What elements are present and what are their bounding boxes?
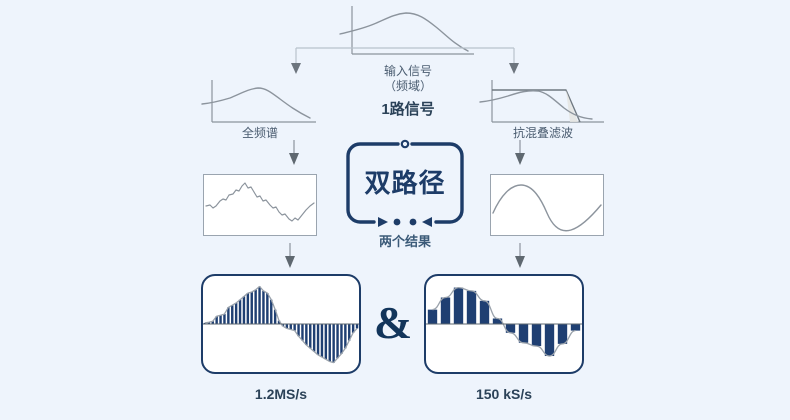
bar [441,298,450,325]
bar [344,324,346,348]
full-spectrum-label: 全频谱 [200,126,320,141]
arrow-left-branch-down [287,140,301,166]
full-spectrum-chart [200,78,320,130]
bar [219,315,221,324]
high-rate-label: 1.2MS/s [201,386,361,402]
sparse-bar-sine-icon [426,276,582,372]
bar [266,293,268,324]
bar [251,292,253,324]
branch-splitter [280,40,530,76]
bar [545,324,554,356]
lowpass-filter-curve-icon [478,78,608,130]
low-rate-label: 150 kS/s [424,386,584,402]
arrow-left-result-down [283,243,297,269]
bar [558,324,567,344]
bar [254,290,256,324]
bar [313,324,315,352]
arrow-down-icon [283,243,297,269]
arrow-down-icon [513,243,527,269]
bar [340,324,342,354]
bar [243,296,245,324]
bar [301,324,303,341]
bar [258,286,260,324]
low-rate-result-panel [424,274,584,374]
two-results-subtitle: 两个结果 [344,231,466,250]
bar [305,324,307,345]
bar [309,324,311,348]
input-channel-label: 1路信号 [338,98,478,119]
bar [247,293,249,324]
noisy-waveform-icon [204,175,316,235]
high-rate-result-panel [201,274,361,374]
arrow-left-icon [422,217,432,227]
sine-waveform-panel [490,174,604,236]
diagram-canvas: 输入信号 （频域） 1路信号 全频谱 抗混叠滤波 [0,0,790,420]
bar [428,310,437,324]
conjunction-ampersand: & [368,300,418,346]
bar [317,324,319,355]
arrow-right-result-down [513,243,527,269]
arrow-right-icon [378,217,388,227]
dense-bar-waveform-icon [203,276,359,372]
bar [480,301,489,324]
bar [262,291,264,324]
branch-split-arrow-icon [280,40,530,76]
arrow-down-icon [513,140,527,166]
dual-path-title: 双路径 [344,163,466,200]
bar [231,305,233,324]
input-signal-caption-sub: （频域） [338,79,478,94]
bar [321,324,323,357]
bar [454,288,463,324]
dot-icon [410,219,417,226]
noisy-waveform-panel [203,174,317,236]
bar [356,324,358,328]
anti-alias-chart [478,78,608,130]
bar [467,291,476,324]
bar [329,324,331,362]
bar [293,324,295,331]
bar [325,324,327,359]
arrow-down-icon [287,140,301,166]
sine-waveform-icon [491,175,603,235]
bar [239,300,241,324]
bar [332,324,334,363]
bar [235,303,237,324]
arrow-right-branch-down [513,140,527,166]
spectrum-curve-icon [200,78,320,130]
anti-alias-label: 抗混叠滤波 [478,126,608,141]
bar [223,314,225,324]
bar [571,324,580,331]
bar [519,324,528,343]
dot-icon [394,219,401,226]
bar [336,324,338,358]
bar [532,324,541,346]
